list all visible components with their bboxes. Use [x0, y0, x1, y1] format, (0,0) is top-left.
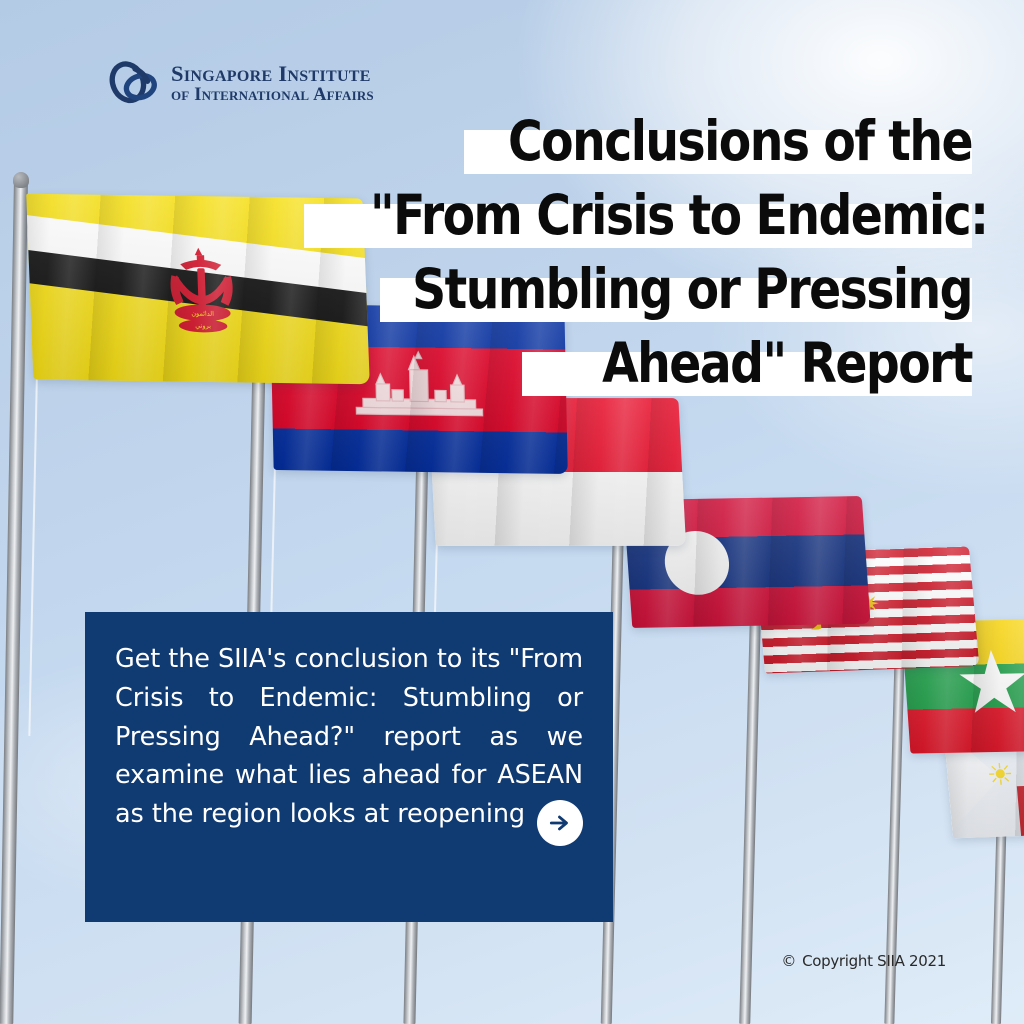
headline-line-4-text: Ahead" Report	[370, 326, 972, 400]
arrow-right-icon[interactable]	[537, 800, 583, 846]
caption-card: Get the SIIA's conclusion to its "From C…	[85, 612, 613, 922]
headline-line-4: Ahead" Report	[272, 326, 972, 400]
headline-line-2: "From Crisis to Endemic:	[272, 178, 972, 252]
copyright-symbol-icon: ©	[781, 952, 796, 970]
caption-copy: Get the SIIA's conclusion to its "From C…	[115, 644, 583, 829]
brunei-crest-icon: الدائمون بروني	[156, 244, 247, 338]
siia-logo-line2: of International Affairs	[171, 86, 374, 105]
flagpole-1	[0, 178, 28, 1024]
siia-logo-line1: Singapore Institute	[171, 63, 374, 86]
svg-text:الدائمون: الدائمون	[191, 310, 214, 318]
caption-body-text: Get the SIIA's conclusion to its "From C…	[115, 640, 583, 885]
page-title: Conclusions of the "From Crisis to Endem…	[272, 104, 972, 400]
svg-text:بروني: بروني	[195, 322, 211, 330]
philippines-sun-icon: ☀	[986, 761, 1016, 792]
headline-line-1-text: Conclusions of the	[370, 104, 972, 178]
headline-line-2-text: "From Crisis to Endemic:	[370, 178, 972, 252]
headline-line-3-text: Stumbling or Pressing	[370, 252, 972, 326]
copyright-notice: © Copyright SIIA 2021	[781, 952, 946, 970]
social-media-poster: ☀ ★ ✷	[0, 0, 1024, 1024]
flagpole-finial-1	[13, 172, 29, 188]
siia-interlocking-rings-logo-icon	[108, 60, 162, 108]
philippines-red-band	[1016, 784, 1024, 836]
headline-line-3: Stumbling or Pressing	[272, 252, 972, 326]
siia-logo-wordmark: Singapore Institute of International Aff…	[171, 63, 374, 105]
siia-logo: Singapore Institute of International Aff…	[108, 60, 374, 108]
headline-line-1: Conclusions of the	[272, 104, 972, 178]
arrow-right-glyph	[547, 810, 573, 836]
copyright-text: Copyright SIIA 2021	[802, 952, 946, 970]
